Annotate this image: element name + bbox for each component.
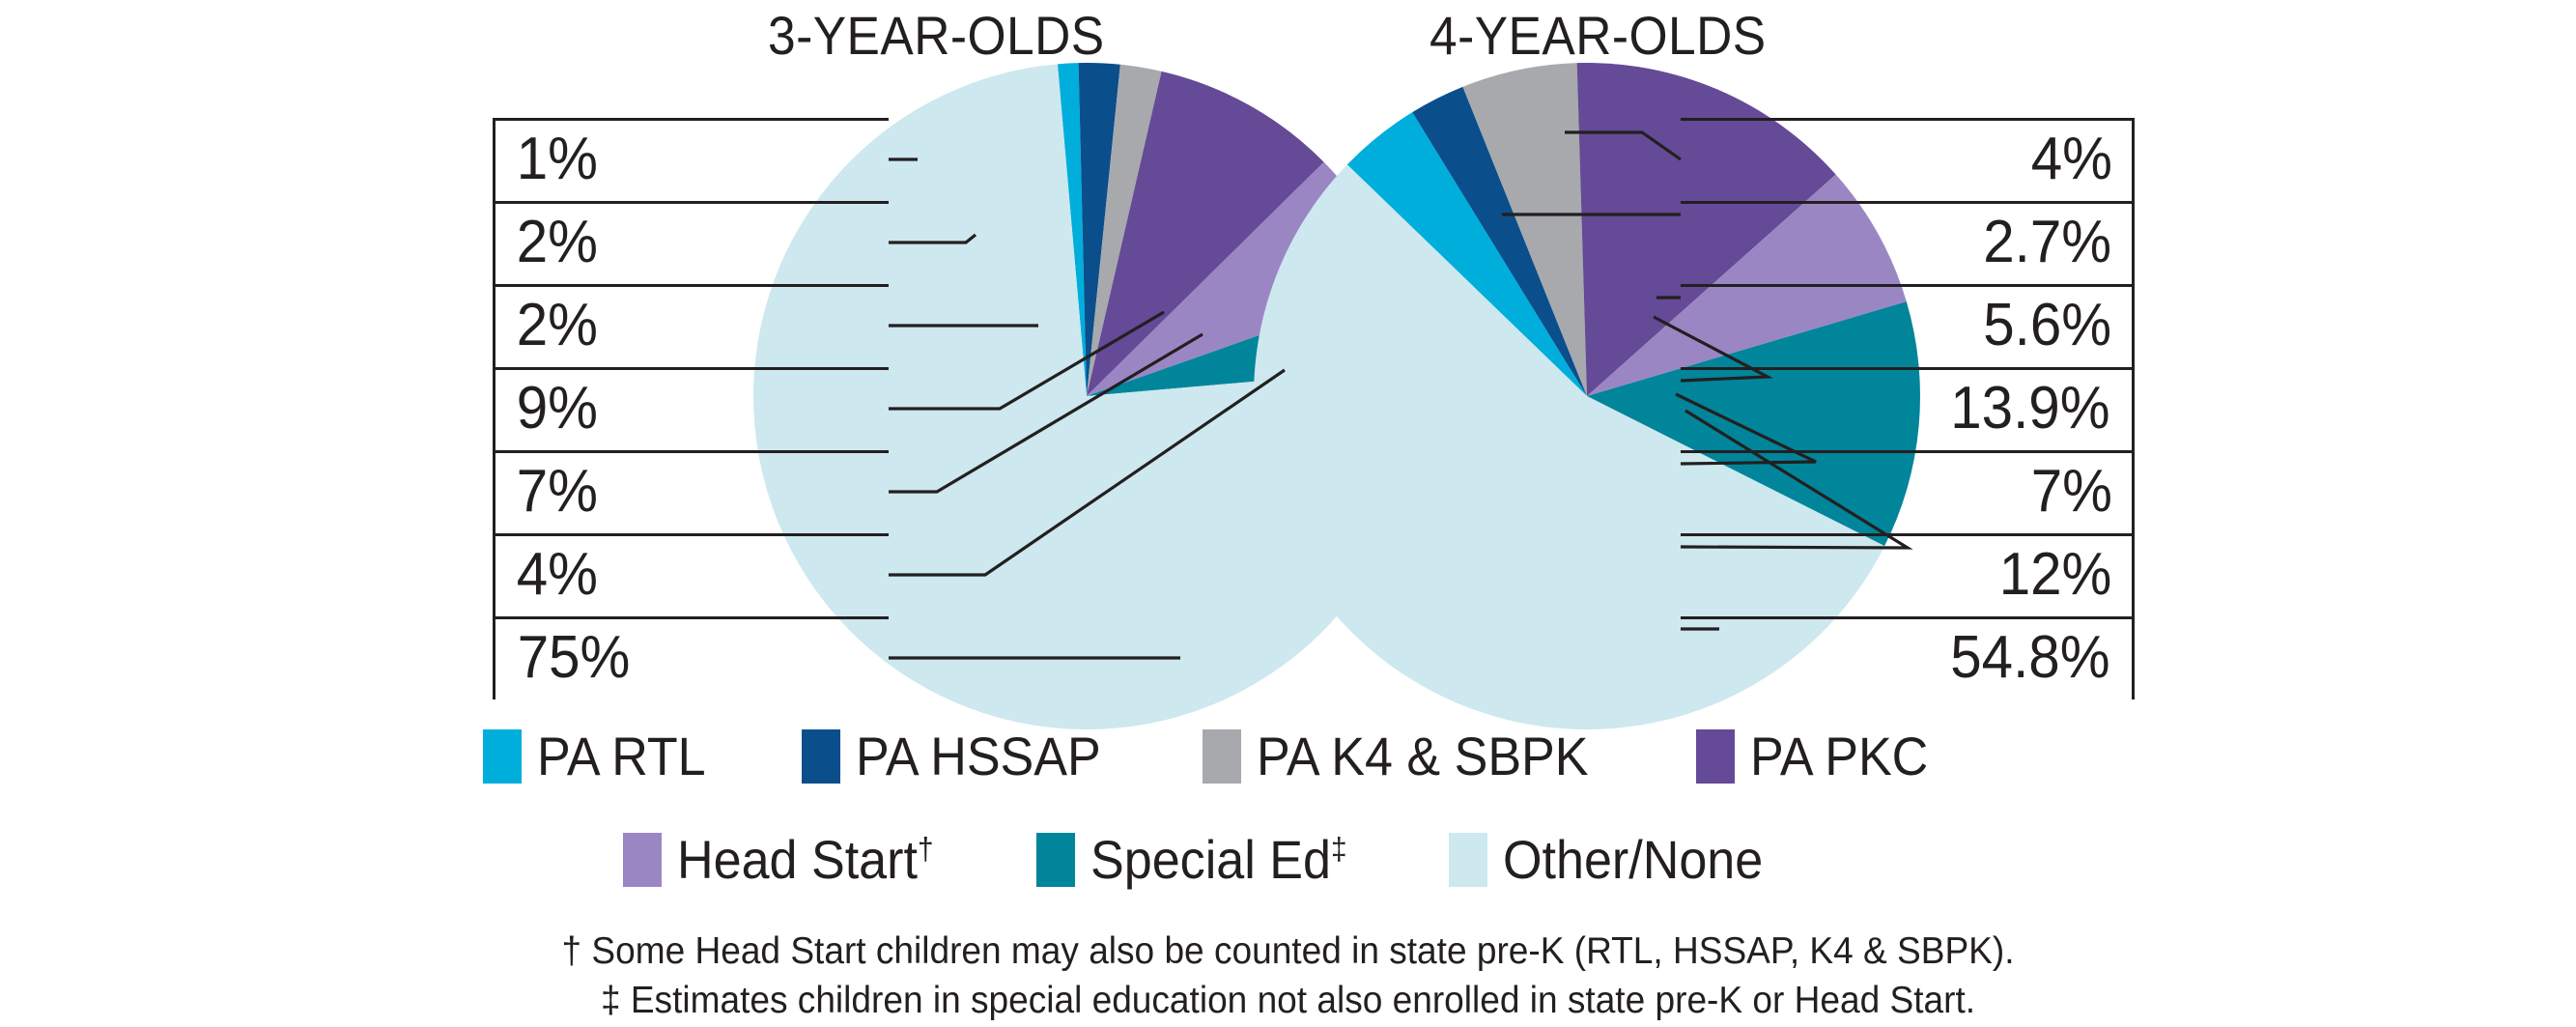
bracket-side xyxy=(2132,284,2135,367)
value-label: 2% xyxy=(517,213,598,272)
footnote-marker-double-dagger: ‡ xyxy=(1330,831,1346,866)
label-box-other-none: 75% xyxy=(493,616,889,699)
bracket-top xyxy=(1681,284,2135,287)
label-box-pa-k4-sbpk: 5.6% xyxy=(1681,284,2135,367)
bracket-side xyxy=(2132,533,2135,616)
bracket-side xyxy=(493,367,495,450)
bracket-side xyxy=(493,118,495,201)
value-label: 4% xyxy=(517,545,598,605)
label-box-special-ed: 12% xyxy=(1681,533,2135,616)
value-label: 75% xyxy=(518,628,631,688)
legend-item-pa-rtl[interactable]: PA RTL xyxy=(483,729,719,784)
value-label: 7% xyxy=(2031,462,2112,522)
label-box-pa-pkc: 13.9% xyxy=(1681,367,2135,450)
legend-label: PA K4 & SBPK xyxy=(1257,729,1589,784)
value-label: 54.8% xyxy=(1950,628,2109,688)
footnote-marker-dagger: † xyxy=(918,831,934,866)
legend-item-other-none[interactable]: Other/None xyxy=(1449,833,1783,887)
bracket-top xyxy=(493,450,889,453)
legend-label: PA PKC xyxy=(1750,729,1928,784)
legend-label: Other/None xyxy=(1503,833,1763,887)
legend-swatch-icon xyxy=(483,729,522,784)
value-label: 2.7% xyxy=(1983,213,2111,272)
label-box-head-start: 7% xyxy=(493,450,889,533)
label-box-head-start: 7% xyxy=(1681,450,2135,533)
legend-swatch-icon xyxy=(802,729,840,784)
legend-label: Head Start† xyxy=(677,833,934,887)
label-box-other-none: 54.8% xyxy=(1681,616,2135,699)
bracket-top xyxy=(493,118,889,121)
bracket-side xyxy=(493,616,495,699)
bracket-side xyxy=(493,533,495,616)
bracket-side xyxy=(2132,118,2135,201)
label-column-3-year-olds: 1% 2% 2% 9% 7% 4% 75 xyxy=(493,118,889,699)
bracket-top xyxy=(1681,118,2135,121)
value-label: 5.6% xyxy=(1983,296,2111,356)
pie-charts-group xyxy=(0,0,2576,734)
legend-item-pa-k4-sbpk[interactable]: PA K4 & SBPK xyxy=(1203,729,1613,784)
bracket-top xyxy=(493,284,889,287)
legend-label: Special Ed‡ xyxy=(1090,833,1347,887)
bracket-side xyxy=(2132,450,2135,533)
label-box-pa-rtl: 4% xyxy=(1681,118,2135,201)
bracket-top xyxy=(493,533,889,536)
bracket-top xyxy=(1681,616,2135,619)
legend-swatch-icon xyxy=(1449,833,1487,887)
legend-item-head-start[interactable]: Head Start† xyxy=(623,833,953,887)
label-column-4-year-olds: 4% 2.7% 5.6% 13.9% 7% 12% xyxy=(1681,118,2135,699)
label-box-pa-pkc: 9% xyxy=(493,367,889,450)
bracket-top xyxy=(493,367,889,370)
bracket-top xyxy=(1681,201,2135,204)
legend-swatch-icon xyxy=(1036,833,1075,887)
value-label: 2% xyxy=(517,296,598,356)
value-label: 13.9% xyxy=(1950,379,2109,439)
value-label: 4% xyxy=(2031,129,2112,189)
bracket-side xyxy=(2132,616,2135,699)
label-box-pa-hssap: 2.7% xyxy=(1681,201,2135,284)
bracket-side xyxy=(493,284,495,367)
bracket-top xyxy=(1681,450,2135,453)
legend-item-pa-pkc[interactable]: PA PKC xyxy=(1696,729,1941,784)
legend-row-secondary: Head Start† Special Ed‡ Other/None xyxy=(623,833,1783,887)
footnote-double-dagger: ‡ Estimates children in special educatio… xyxy=(65,977,2512,1026)
label-box-pa-k4-sbpk: 2% xyxy=(493,284,889,367)
chart-canvas: 3-YEAR-OLDS 4-YEAR-OLDS xyxy=(0,0,2576,1027)
bracket-side xyxy=(2132,367,2135,450)
legend-row-primary: PA RTL PA HSSAP PA K4 & SBPK PA PKC xyxy=(483,729,1941,784)
label-box-pa-hssap: 2% xyxy=(493,201,889,284)
value-label: 1% xyxy=(517,129,598,189)
footnote-dagger: † Some Head Start children may also be c… xyxy=(65,927,2512,977)
label-box-pa-rtl: 1% xyxy=(493,118,889,201)
legend-swatch-icon xyxy=(1203,729,1241,784)
footnotes-block: † Some Head Start children may also be c… xyxy=(0,927,2576,1025)
bracket-top xyxy=(1681,367,2135,370)
legend-item-special-ed[interactable]: Special Ed‡ xyxy=(1036,833,1367,887)
value-label: 9% xyxy=(517,379,598,439)
value-label: 12% xyxy=(1999,545,2112,605)
legend-label: PA HSSAP xyxy=(856,729,1101,784)
bracket-top xyxy=(493,201,889,204)
legend-swatch-icon xyxy=(623,833,662,887)
bracket-top xyxy=(1681,533,2135,536)
value-label: 7% xyxy=(517,462,598,522)
bracket-side xyxy=(493,201,495,284)
bracket-side xyxy=(493,450,495,533)
legend-label: PA RTL xyxy=(537,729,706,784)
legend-swatch-icon xyxy=(1696,729,1735,784)
legend-item-pa-hssap[interactable]: PA HSSAP xyxy=(802,729,1119,784)
bracket-top xyxy=(493,616,889,619)
bracket-side xyxy=(2132,201,2135,284)
label-box-special-ed: 4% xyxy=(493,533,889,616)
